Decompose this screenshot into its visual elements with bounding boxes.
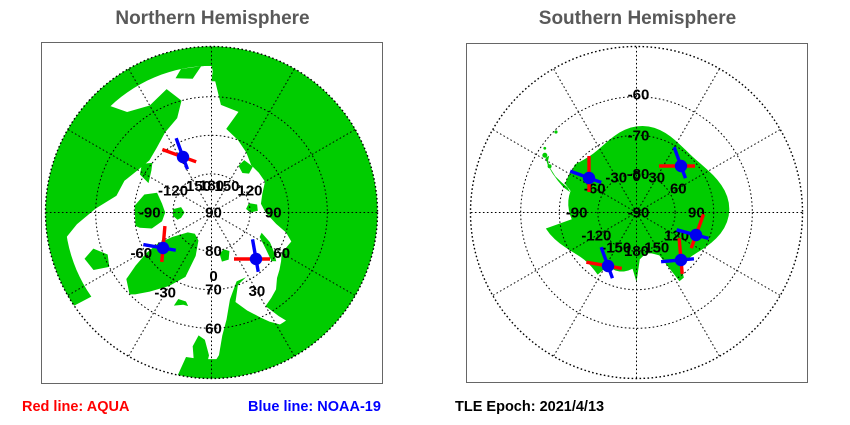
satellite-marker-dot[interactable] [583, 172, 595, 184]
grid-label: 60 [205, 320, 222, 337]
northern-hemisphere-plot[interactable]: 180150120906030-150-120-90-60-3090800706… [41, 42, 383, 384]
northern-hemisphere-title: Northern Hemisphere [0, 8, 425, 30]
northern-hemisphere-map-svg: 180150120906030-150-120-90-60-3090800706… [42, 43, 381, 382]
satellite-marker-dot[interactable] [675, 254, 687, 266]
satellite-marker-dot[interactable] [250, 253, 262, 265]
grid-label: -90 [566, 205, 588, 222]
satellite-marker-dot[interactable] [602, 260, 614, 272]
grid-label: 80 [205, 243, 222, 260]
satellite-marker-dot[interactable] [177, 151, 189, 163]
southern-hemisphere-title: Southern Hemisphere [425, 8, 850, 30]
grid-label: -70 [628, 127, 650, 144]
grid-label: -120 [158, 182, 188, 199]
legend-blue-line: Blue line: NOAA-19 [248, 399, 381, 415]
grid-label: -60 [130, 245, 152, 262]
grid-label: -30 [605, 169, 627, 186]
grid-label: 150 [214, 178, 239, 195]
tle-epoch-label: TLE Epoch: 2021/4/13 [455, 399, 604, 415]
southern-hemisphere-panel: Southern Hemisphere 0306090120150180-150… [425, 0, 850, 425]
grid-label: -90 [628, 205, 650, 222]
southern-hemisphere-plot[interactable]: 0306090120150180-150-120-90-60-30-90-80-… [466, 43, 808, 383]
grid-label: -60 [628, 87, 650, 104]
grid-label: -30 [154, 285, 176, 302]
satellite-marker-dot[interactable] [157, 242, 169, 254]
satellite-marker-dot[interactable] [690, 229, 702, 241]
legend-red-line: Red line: AQUA [22, 399, 129, 415]
grid-label: -80 [628, 166, 650, 183]
grid-label: 30 [648, 169, 665, 186]
grid-label: 60 [273, 245, 290, 262]
grid-label: 60 [670, 180, 687, 197]
grid-label: 120 [237, 182, 262, 199]
northern-hemisphere-panel: Northern Hemisphere 180150120906030-150-… [0, 0, 425, 425]
screenshot-root: Northern Hemisphere 180150120906030-150-… [0, 0, 850, 425]
southern-hemisphere-map-svg: 0306090120150180-150-120-90-60-30-90-80-… [467, 44, 806, 381]
grid-label: -120 [581, 228, 611, 245]
grid-label: 30 [249, 283, 266, 300]
grid-label: 70 [205, 282, 222, 299]
satellite-marker-dot[interactable] [675, 160, 687, 172]
grid-label: 90 [205, 205, 222, 222]
grid-label: -90 [139, 205, 161, 222]
grid-label: 90 [265, 205, 282, 222]
